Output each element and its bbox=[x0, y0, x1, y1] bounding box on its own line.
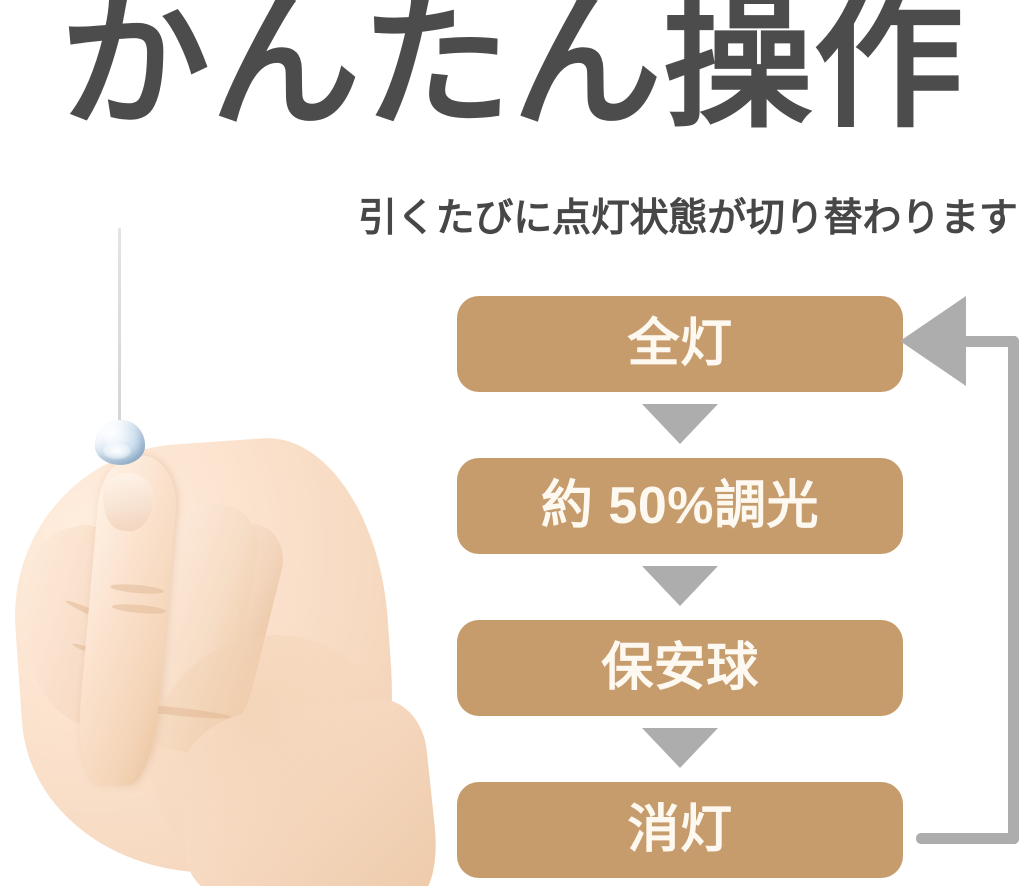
flow-step-night-light: 保安球 bbox=[457, 620, 903, 716]
promo-graphic-canvas: かんたん操作 引くたびに点灯状態が切り替わります 全灯 約 50%調光 保安球 … bbox=[0, 0, 1024, 886]
subtitle-text: 引くたびに点灯状態が切り替わります bbox=[358, 199, 1024, 238]
flow-step-label: 消灯 bbox=[627, 804, 732, 856]
loop-bottom-segment bbox=[916, 833, 1019, 844]
loop-arrowhead-left-icon bbox=[900, 296, 966, 386]
flow-step-lights-off: 消灯 bbox=[457, 782, 903, 878]
page-title: かんたん操作 bbox=[0, 0, 1024, 136]
hand-shading bbox=[150, 635, 400, 885]
flow-step-label: 全灯 bbox=[627, 318, 732, 370]
flow-step-50-percent-dim: 約 50%調光 bbox=[457, 458, 903, 554]
pull-cord-line bbox=[118, 228, 121, 433]
loop-vertical-segment bbox=[1008, 336, 1019, 844]
flow-step-label: 保安球 bbox=[601, 642, 759, 694]
loop-top-segment bbox=[965, 336, 1019, 347]
hand-pulling-cord-photo bbox=[0, 215, 430, 886]
arrow-down-icon bbox=[642, 566, 718, 606]
flow-step-label: 約 50%調光 bbox=[541, 480, 819, 532]
pull-cord-bead-highlight bbox=[103, 443, 131, 459]
arrow-down-icon bbox=[642, 404, 718, 444]
loop-back-arrow-icon bbox=[900, 292, 1024, 862]
arrow-down-icon bbox=[642, 728, 718, 768]
flow-step-all-on: 全灯 bbox=[457, 296, 903, 392]
